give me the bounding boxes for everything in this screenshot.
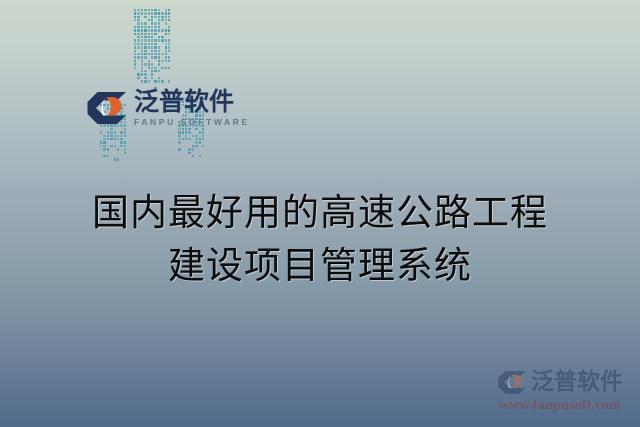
watermark-fanpu-hexagon-mark-icon	[497, 370, 527, 395]
brand-name-en: FANPU SOFTWARE	[134, 117, 250, 127]
page-title: 国内最好用的高速公路工程 建设项目管理系统	[0, 186, 640, 292]
banner-canvas: 泛普软件 FANPU SOFTWARE 国内最好用的高速公路工程 建设项目管理系…	[0, 0, 640, 427]
watermark-logo-row: 泛普软件	[497, 367, 637, 397]
page-title-line-2: 建设项目管理系统	[0, 239, 640, 292]
watermark-name-cn: 泛普软件	[531, 371, 623, 394]
pixel-city-skyline-icon	[100, 2, 200, 90]
fanpu-hexagon-mark-icon	[86, 91, 128, 125]
page-title-line-1: 国内最好用的高速公路工程	[0, 186, 640, 239]
brand-logo: 泛普软件 FANPU SOFTWARE	[86, 88, 248, 128]
watermark: 泛普软件 www.fanpusoft.com	[497, 367, 637, 417]
brand-name-cn: 泛普软件	[134, 89, 250, 115]
watermark-url: www.fanpusoft.com	[499, 398, 637, 414]
brand-text-block: 泛普软件 FANPU SOFTWARE	[134, 89, 250, 127]
